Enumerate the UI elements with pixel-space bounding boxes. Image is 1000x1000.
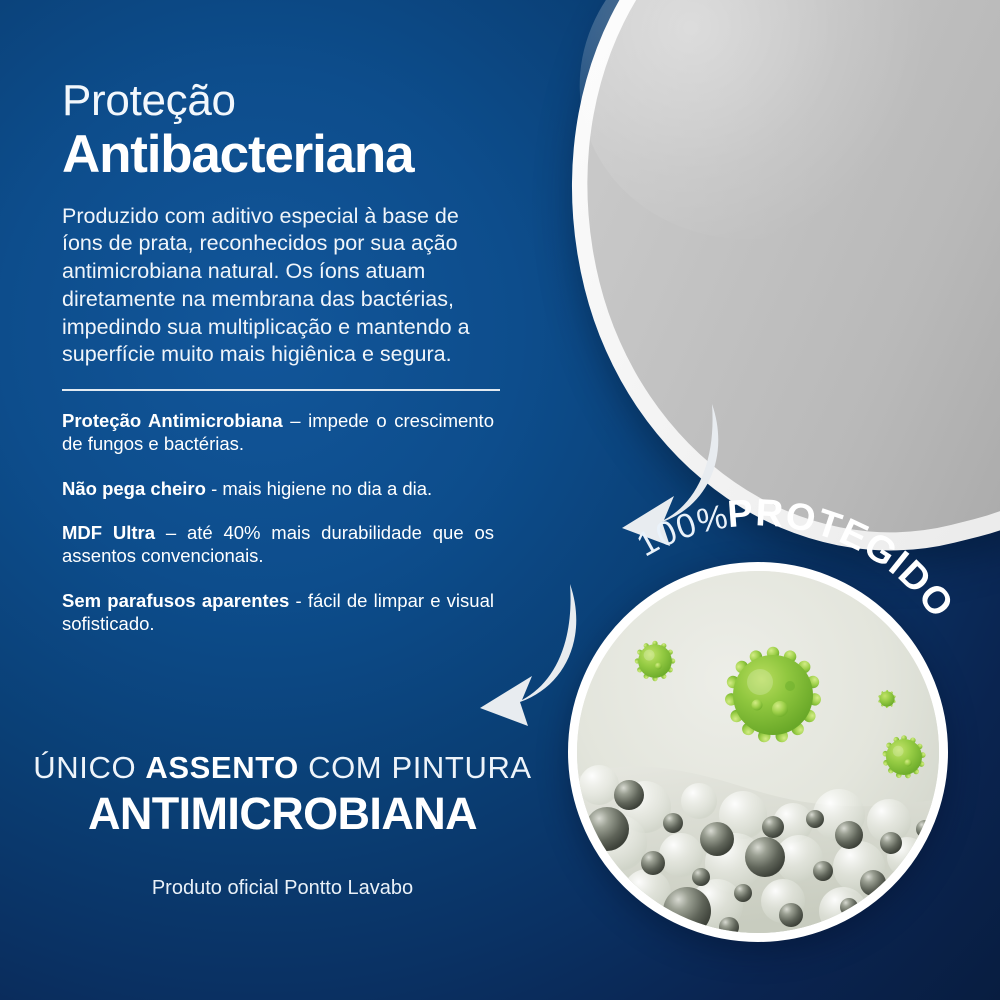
feature-item: MDF Ultra – até 40% mais durabilidade qu… bbox=[62, 521, 494, 568]
official-product-note: Produto oficial Pontto Lavabo bbox=[0, 877, 565, 900]
content-column: Proteção Antibacteriana Produzido com ad… bbox=[62, 78, 502, 635]
bottom-bigline: ANTIMICROBIANA bbox=[0, 791, 565, 837]
feature-dash: - bbox=[289, 590, 308, 611]
bacteria-illustration bbox=[568, 562, 948, 942]
feature-title: Proteção Antimicrobiana bbox=[62, 410, 283, 431]
feature-text: mais higiene no dia a dia. bbox=[222, 478, 432, 499]
headline-line-2: Antibacteriana bbox=[62, 128, 502, 181]
feature-item: Proteção Antimicrobiana – impede o cresc… bbox=[62, 409, 494, 456]
body-paragraph: Produzido com aditivo especial à base de… bbox=[62, 203, 492, 369]
bottom-headline-block: ÚNICO ASSENTO COM PINTURA ANTIMICROBIANA… bbox=[0, 752, 565, 900]
feature-title: Sem parafusos aparentes bbox=[62, 590, 289, 611]
feature-dash: – bbox=[155, 522, 187, 543]
feature-title: Não pega cheiro bbox=[62, 478, 206, 499]
feature-item: Não pega cheiro - mais higiene no dia a … bbox=[62, 477, 494, 500]
feature-item: Sem parafusos aparentes - fácil de limpa… bbox=[62, 589, 494, 636]
kicker-bold: ASSENTO bbox=[145, 750, 299, 785]
toilet-seat-lid-image bbox=[497, 0, 1000, 615]
bottom-kicker: ÚNICO ASSENTO COM PINTURA bbox=[0, 752, 565, 783]
kicker-pre: ÚNICO bbox=[33, 750, 145, 785]
feature-dash: – bbox=[283, 410, 308, 431]
promo-poster: Proteção Antibacteriana Produzido com ad… bbox=[0, 0, 1000, 1000]
headline-line-1: Proteção bbox=[62, 78, 502, 124]
section-divider bbox=[62, 389, 500, 391]
feature-dash: - bbox=[206, 478, 222, 499]
kicker-post: COM PINTURA bbox=[299, 750, 532, 785]
bacteria-illustration-svg bbox=[577, 571, 939, 933]
feature-title: MDF Ultra bbox=[62, 522, 155, 543]
